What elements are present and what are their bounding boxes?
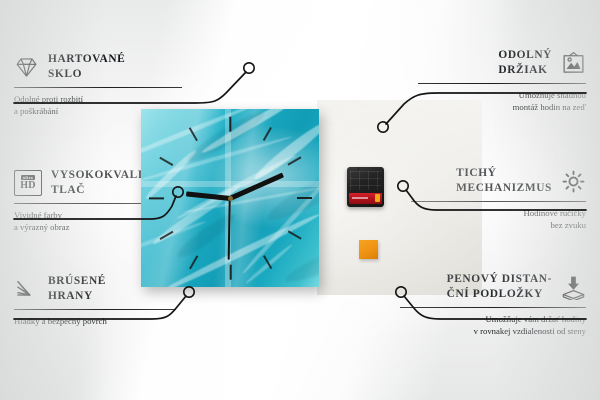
feature-title: TICHÝ MECHANIZMUS xyxy=(456,166,552,196)
feature-desc-line1: Odolné proti rozbití xyxy=(14,94,83,104)
feature-desc-line1: Umožňuje vám držať hodiny xyxy=(486,314,586,324)
feature-header: TICHÝ MECHANIZMUS xyxy=(411,166,586,196)
feature-divider xyxy=(14,87,182,88)
clock-tick xyxy=(149,197,164,199)
feature-description: Umožňuje snadnou montáž hodin na zeď xyxy=(418,89,586,114)
feature-title: HARTOVANÉ SKLO xyxy=(48,52,125,82)
feature-title-line1: TICHÝ xyxy=(456,167,496,179)
mechanism-grid xyxy=(350,171,381,190)
feature-description: Hodinové ručičky bez zvuku xyxy=(411,207,586,232)
foam-spacer-arrow-icon xyxy=(561,275,586,300)
feature-title-line2: MECHANIZMUS xyxy=(456,182,552,194)
feature-desc-line1: Hladký a bezpečný povrch xyxy=(14,316,107,326)
feature-desc-line1: Umožňuje snadnou xyxy=(519,90,586,100)
feature-title-line1: HARTOVANÉ xyxy=(48,53,125,65)
glass-wall-clock xyxy=(141,109,319,287)
feature-foam-spacers: PENOVÝ DISTAN- ČNÍ PODLOŽKY Umožňuje vám… xyxy=(400,272,586,338)
clock-hub xyxy=(228,196,233,201)
clock-mechanism xyxy=(347,167,384,207)
feature-title: PENOVÝ DISTAN- ČNÍ PODLOŽKY xyxy=(447,272,552,302)
feature-divider xyxy=(411,201,586,202)
feature-header: HARTOVANÉ SKLO xyxy=(14,52,182,82)
clock-tick xyxy=(297,197,312,199)
foam-spacer-pad xyxy=(359,240,378,259)
feature-desc-line2: a výrazný obraz xyxy=(14,222,69,232)
clock-tick xyxy=(229,264,231,279)
hd-label: HD xyxy=(20,181,36,191)
feature-title-line1: PENOVÝ DISTAN- xyxy=(447,273,552,285)
feature-title-line2: ČNÍ PODLOŽKY xyxy=(447,288,543,300)
feature-title-line1: BRÚSENÉ xyxy=(48,275,106,287)
feature-header: ODOLNÝ DRŽIAK xyxy=(418,48,586,78)
feature-title: BRÚSENÉ HRANY xyxy=(48,274,106,304)
feature-divider xyxy=(14,309,176,310)
feature-title-line2: HRANY xyxy=(48,290,93,302)
feature-desc-line1: Hodinové ručičky xyxy=(524,208,586,218)
feature-divider xyxy=(400,307,586,308)
ultra-hd-icon: ultra HD xyxy=(14,170,42,196)
feature-desc-line2: v rovnakej vzdialenosti od steny xyxy=(474,326,586,336)
feature-title-line2: DRŽIAK xyxy=(498,64,547,76)
picture-frame-hanger-icon xyxy=(561,51,586,76)
feature-desc-line1: Vividné farby xyxy=(14,210,62,220)
battery xyxy=(349,193,382,204)
diamond-icon xyxy=(14,55,39,80)
connector-node-glass xyxy=(244,63,254,73)
feature-desc-line2: a poškrábání xyxy=(14,106,58,116)
feature-title: ODOLNÝ DRŽIAK xyxy=(498,48,552,78)
feature-title-line1: ODOLNÝ xyxy=(498,49,552,61)
feature-title-line2: SKLO xyxy=(48,68,82,80)
gear-icon xyxy=(561,169,586,194)
clock-tick xyxy=(229,116,231,131)
feature-header: PENOVÝ DISTAN- ČNÍ PODLOŽKY xyxy=(400,272,586,302)
feature-title-line2: TLAČ xyxy=(51,184,85,196)
feature-divider xyxy=(418,83,586,84)
feature-desc-line2: montáž hodin na zeď xyxy=(513,102,586,112)
feature-silent-mechanism: TICHÝ MECHANIZMUS Hodinové ručičky bez z… xyxy=(411,166,586,232)
feature-durable-hanger: ODOLNÝ DRŽIAK Umožňuje snadnou montáž ho… xyxy=(418,48,586,114)
beveled-edges-icon xyxy=(14,277,39,302)
feature-description: Hladký a bezpečný povrch xyxy=(14,315,176,327)
product-infographic: HARTOVANÉ SKLO Odolné proti rozbití a po… xyxy=(0,0,600,400)
feature-tempered-glass: HARTOVANÉ SKLO Odolné proti rozbití a po… xyxy=(14,52,182,118)
connector-node-edges xyxy=(184,287,194,297)
feature-desc-line2: bez zvuku xyxy=(551,220,586,230)
feature-description: Umožňuje vám držať hodiny v rovnakej vzd… xyxy=(400,313,586,338)
